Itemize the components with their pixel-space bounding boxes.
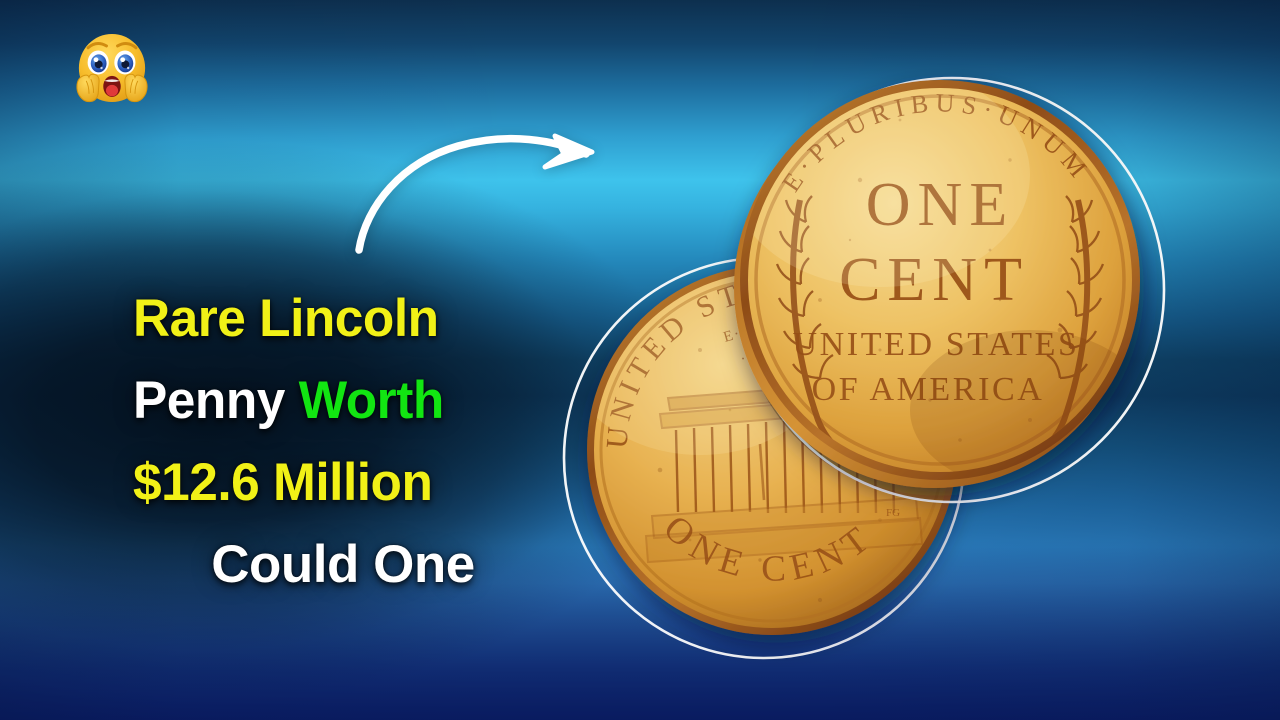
headline-line-2-text-b: Worth	[299, 371, 444, 430]
headline-line-4: Could One	[133, 538, 553, 591]
thumbnail-canvas: UNITED STATES E·PL ·UN	[0, 0, 1280, 720]
headline-line-1: Rare Lincoln	[133, 292, 540, 345]
headline-line-3-text: $12.6 Million	[133, 453, 432, 512]
headline-line-4-text: Could One	[211, 535, 474, 594]
headline-line-2: Penny Worth	[133, 374, 540, 427]
curved-right-arrow-icon	[340, 110, 620, 280]
headline-block: Rare Lincoln Penny Worth $12.6 Million C…	[133, 292, 553, 591]
headline-line-2-text-a: Penny	[133, 371, 299, 430]
shocked-face-emoji-icon	[66, 22, 158, 114]
headline-line-1-text: Rare Lincoln	[133, 289, 439, 348]
headline-line-3: $12.6 Million	[133, 456, 540, 509]
